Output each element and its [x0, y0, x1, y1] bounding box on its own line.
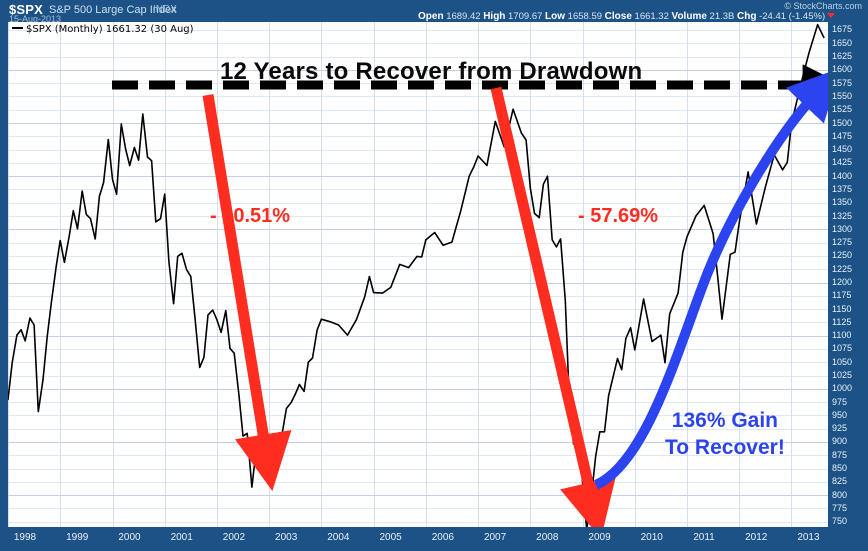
x-axis-tick-label: 2004	[327, 532, 349, 543]
x-axis-tick-label: 2011	[693, 532, 715, 543]
low-label: Low	[545, 11, 565, 22]
chart-header-bar: $SPX S&P 500 Large Cap Index INDX 15-Aug…	[0, 0, 868, 22]
down-triangle-icon	[827, 13, 835, 18]
y-axis-tick-label: 1525	[832, 105, 852, 114]
y-axis-tick-label: 1575	[832, 79, 852, 88]
x-axis-tick-label: 2006	[432, 532, 454, 543]
chart-plot-area[interactable]: $SPX (Monthly) 1661.32 (30 Aug) 12 Years…	[8, 22, 828, 527]
low-value: 1658.59	[568, 11, 602, 22]
y-axis-tick-label: 1650	[832, 39, 852, 48]
y-axis-tick-label: 1275	[832, 238, 852, 247]
y-axis-tick-label: 800	[832, 491, 847, 500]
y-axis-tick-label: 1325	[832, 212, 852, 221]
x-axis-tick-label: 2008	[536, 532, 558, 543]
y-axis-tick-label: 1050	[832, 358, 852, 367]
recovery-gain-line2: To Recover!	[665, 434, 785, 461]
recovery-gain-label: 136% Gain To Recover!	[665, 407, 785, 461]
drawdown-arrow-2	[496, 88, 592, 500]
y-axis-tick-label: 1175	[832, 291, 851, 300]
y-axis-tick-label: 850	[832, 464, 847, 473]
y-axis-tick-label: 975	[832, 398, 847, 407]
volume-value: 21.3B	[710, 11, 735, 22]
legend-label: $SPX (Monthly) 1661.32 (30 Aug)	[26, 24, 194, 35]
drawdown-1-label: - 50.51%	[210, 205, 290, 228]
x-axis-tick-label: 1999	[66, 532, 88, 543]
x-axis-tick-label: 2013	[797, 532, 819, 543]
x-axis-tick-label: 2000	[118, 532, 140, 543]
drawdown-arrow-1	[208, 95, 266, 452]
y-axis-tick-label: 1625	[832, 52, 852, 61]
y-axis-tick-label: 750	[832, 517, 847, 526]
y-axis-tick-label: 775	[832, 504, 847, 513]
chg-value: -24.41 (-1.45%)	[759, 11, 825, 22]
y-axis-tick-label: 1250	[832, 251, 852, 260]
volume-label: Volume	[672, 11, 707, 22]
close-label: Close	[605, 11, 632, 22]
y-axis-tick-label: 1225	[832, 265, 852, 274]
stockcharts-screenshot: $SPX S&P 500 Large Cap Index INDX 15-Aug…	[0, 0, 868, 551]
x-axis-tick-label: 2009	[588, 532, 610, 543]
y-axis-tick-label: 875	[832, 451, 847, 460]
recovery-gain-line1: 136% Gain	[665, 407, 785, 434]
drawdown-2-label: - 57.69%	[578, 205, 658, 228]
y-axis-tick-label: 1675	[832, 25, 852, 34]
series-legend: $SPX (Monthly) 1661.32 (30 Aug)	[12, 24, 194, 35]
x-axis-tick-label: 2003	[275, 532, 297, 543]
y-axis-tick-label: 1375	[832, 185, 852, 194]
y-axis: 7507758008258508759009259509751000102510…	[828, 22, 868, 527]
y-axis-tick-label: 1300	[832, 225, 852, 234]
y-axis-tick-label: 1200	[832, 278, 852, 287]
close-value: 1661.32	[635, 11, 669, 22]
open-value: 1689.42	[446, 11, 480, 22]
chart-title-annotation: 12 Years to Recover from Drawdown	[220, 58, 642, 86]
y-axis-tick-label: 1000	[832, 384, 852, 393]
y-axis-tick-label: 1475	[832, 132, 852, 141]
y-axis-tick-label: 1400	[832, 172, 852, 181]
open-label: Open	[418, 11, 444, 22]
y-axis-tick-label: 1125	[832, 318, 851, 327]
y-axis-tick-label: 1600	[832, 65, 852, 74]
high-value: 1709.67	[508, 11, 542, 22]
y-axis-tick-label: 1500	[832, 119, 852, 128]
y-axis-tick-label: 1150	[832, 305, 851, 314]
x-axis-tick-label: 2001	[171, 532, 193, 543]
exchange-label: INDX	[153, 4, 177, 15]
y-axis-tick-label: 925	[832, 424, 847, 433]
x-axis-tick-label: 2007	[484, 532, 506, 543]
x-axis: 1998199920002001200220032004200520062007…	[0, 527, 868, 551]
y-axis-tick-label: 1075	[832, 344, 852, 353]
y-axis-tick-label: 1425	[832, 158, 852, 167]
y-axis-tick-label: 1350	[832, 198, 852, 207]
y-axis-tick-label: 950	[832, 411, 847, 420]
y-axis-tick-label: 1100	[832, 331, 851, 340]
stockcharts-brand: © StockCharts.com	[784, 1, 862, 11]
legend-line-swatch	[12, 27, 23, 29]
chg-label: Chg	[737, 11, 756, 22]
x-axis-tick-label: 1998	[14, 532, 36, 543]
y-axis-tick-label: 1550	[832, 92, 852, 101]
y-axis-tick-label: 1450	[832, 145, 852, 154]
x-axis-tick-label: 2012	[745, 532, 767, 543]
y-axis-tick-label: 1025	[832, 371, 852, 380]
x-axis-tick-label: 2005	[379, 532, 401, 543]
x-axis-tick-label: 2010	[641, 532, 663, 543]
high-label: High	[483, 11, 505, 22]
x-axis-tick-label: 2002	[223, 532, 245, 543]
y-axis-tick-label: 825	[832, 477, 847, 486]
y-axis-tick-label: 900	[832, 437, 847, 446]
